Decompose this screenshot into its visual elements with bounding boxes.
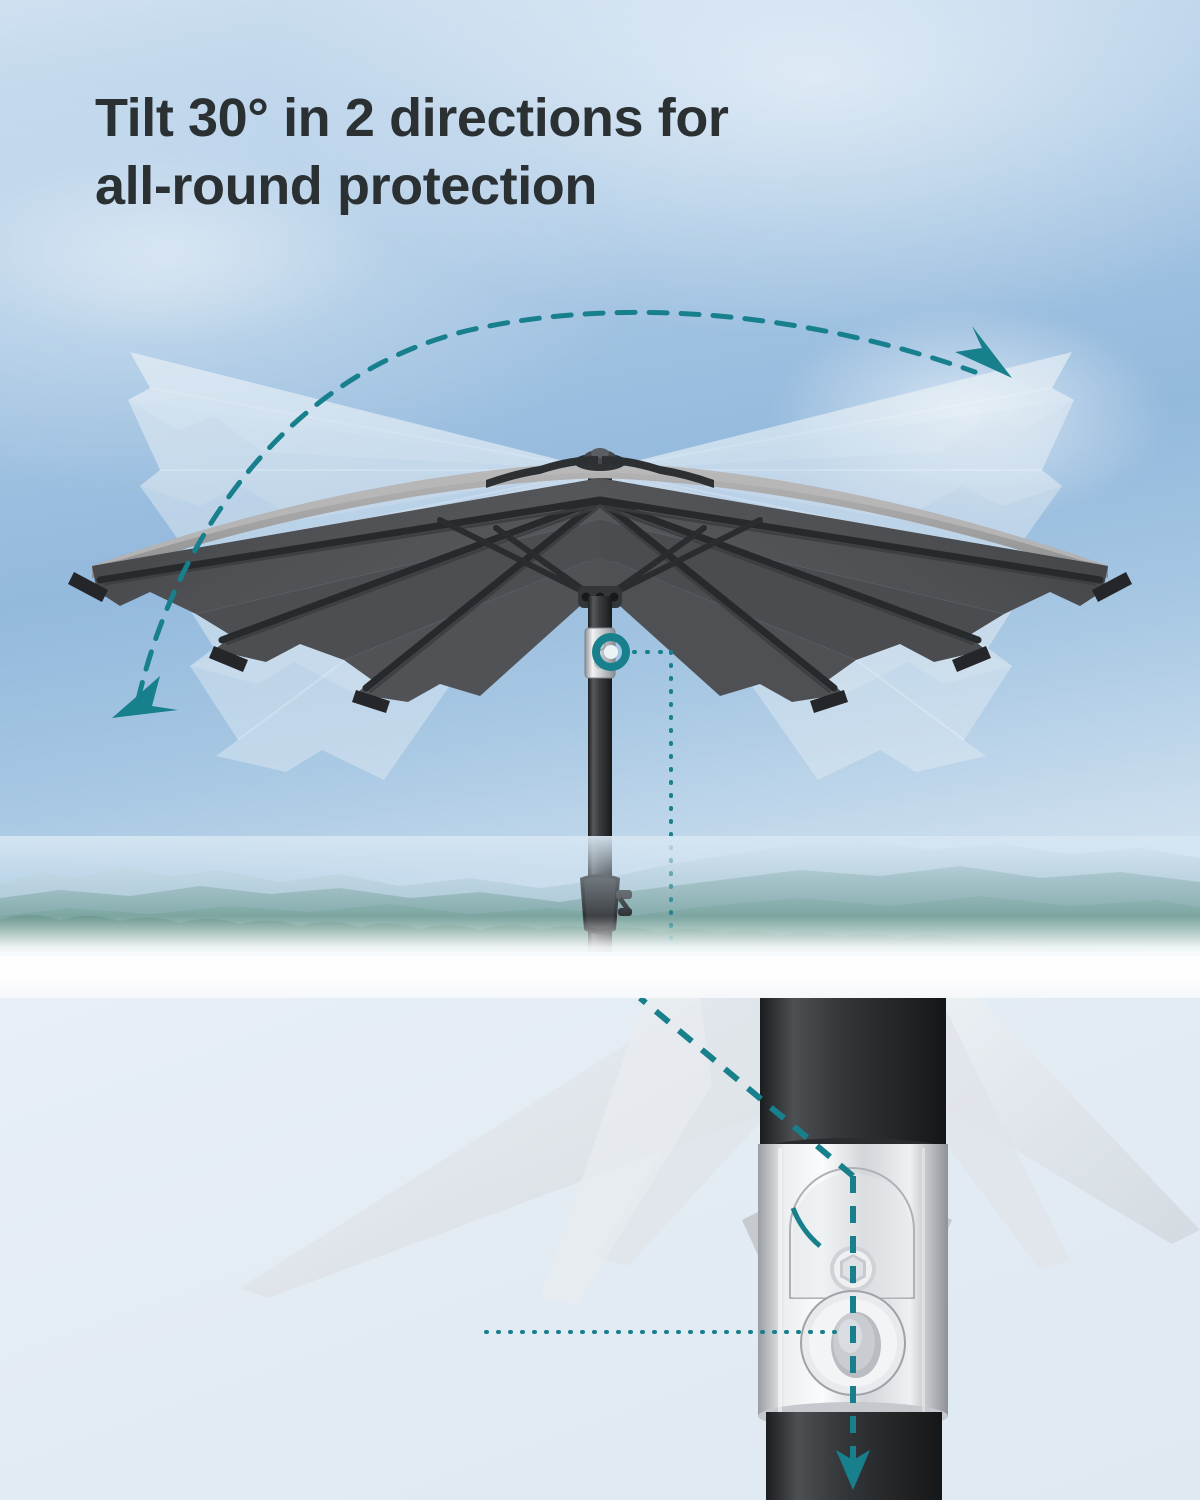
headline-line-2: all-round protection — [95, 152, 915, 220]
detail-pole-upper — [760, 998, 946, 1150]
panel-divider — [0, 952, 1200, 1000]
top-scene-panel: Tilt 30° in 2 directions for all-round p… — [0, 0, 1200, 956]
page-title: Tilt 30° in 2 directions for all-round p… — [95, 84, 915, 220]
horizon-fog — [0, 916, 1200, 956]
arrow-head-left — [112, 676, 178, 718]
joint-callout-marker — [596, 637, 626, 667]
joint-callout-leader — [634, 652, 671, 956]
product-feature-image: Tilt 30° in 2 directions for all-round p… — [0, 0, 1200, 1500]
detail-scene-panel: 30° Press the button to tilt it The zinc… — [0, 998, 1200, 1500]
detail-ghost-ribs — [240, 998, 1200, 1304]
tilt-direction-arc — [138, 312, 975, 700]
headline-line-1: Tilt 30° in 2 directions for — [95, 84, 915, 152]
